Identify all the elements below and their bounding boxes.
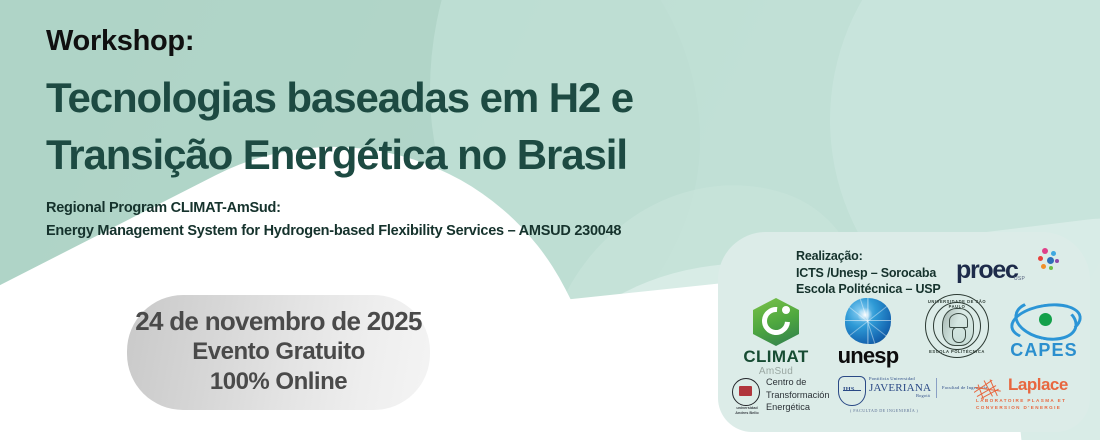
javeriana-overline: Pontificia Universidad [869,376,915,381]
kicker-label: Workshop: [46,26,746,58]
usp-poli-seal-logo: UNIVERSIDADE DE SÃO PAULO ESCOLA POLITÉC… [914,294,1000,358]
unab-mark-sub-1: universidad [736,406,757,410]
capes-logo: CAPES [1000,298,1088,359]
climat-wordmark: CLIMAT [730,348,822,365]
sponsor-logo-row-primary: CLIMAT AmSud unesp UNIVERSIDADE DE SÃO P… [718,294,1090,376]
unab-wordmark: Centro de Transformación Energética [766,376,829,414]
realizacao-block: Realização: ICTS /Unesp – Sorocaba Escol… [796,248,941,298]
unab-line-1: Centro de [766,377,806,387]
event-details-pill: 24 de novembro de 2025 Evento Gratuito 1… [127,295,430,410]
sponsors-card: Realização: ICTS /Unesp – Sorocaba Escol… [718,232,1090,432]
unesp-wordmark: unesp [822,345,914,367]
usp-seal-top-text: UNIVERSIDADE DE SÃO PAULO [926,299,988,309]
laplace-mesh-icon [974,378,1008,400]
capes-orbit-icon [1008,298,1080,340]
usp-seal-bottom-text: ESCOLA POLITÉCNICA [926,349,988,354]
event-date: 24 de novembro de 2025 [135,306,422,338]
event-price: Evento Gratuito [192,337,365,367]
unab-mark-sub: universidad Andres Bello [730,406,764,416]
realizacao-label: Realização: [796,248,941,265]
capes-wordmark: CAPES [1000,341,1088,359]
program-line-1: Regional Program CLIMAT-AmSud: [46,197,746,219]
unab-line-2: Transformación [766,390,829,400]
program-block: Regional Program CLIMAT-AmSud: Energy Ma… [46,197,746,242]
unab-line-3: Energética [766,402,810,412]
javeriana-divider [936,378,937,398]
realizacao-org-1: ICTS /Unesp – Sorocaba [796,265,941,282]
laplace-wordmark: Laplace [1008,376,1068,393]
laplace-sub-2: CONVERSION D'ENERGIE [976,405,1061,410]
program-line-2: Energy Management System for Hydrogen-ba… [46,220,746,242]
event-banner: Workshop: Tecnologias baseadas em H2 e T… [0,0,1100,440]
proec-sub: USP [1014,276,1025,282]
unab-mark-sub-2: Andres Bello [735,411,758,415]
climat-amsud-logo: CLIMAT AmSud [730,298,822,379]
proec-wordmark: proec [956,256,1018,285]
sponsor-logo-row-secondary: universidad Andres Bello Centro de Trans… [718,372,1090,428]
javeriana-city: Bogotá [916,393,930,398]
proec-dots-icon [1028,248,1062,278]
proec-logo: proec USP [956,248,1064,290]
page-title-line-2: Transição Energética no Brasil [46,127,746,184]
unesp-globe-icon [845,298,891,344]
headline-block: Workshop: Tecnologias baseadas em H2 e T… [46,26,746,242]
javeriana-footer: ( FACULTAD DE INGENIERÍA ) [850,408,918,413]
laplace-sub-1: LABORATOIRE PLASMA ET [976,398,1066,403]
usp-seal-icon: UNIVERSIDADE DE SÃO PAULO ESCOLA POLITÉC… [925,294,989,358]
javeriana-monogram: IHS [843,386,855,393]
climat-hexagon-icon [753,298,799,346]
page-title-line-1: Tecnologias baseadas em H2 e [46,70,746,127]
event-format: 100% Online [210,367,347,397]
unab-shield-icon [732,378,760,406]
unesp-logo: unesp [822,298,914,367]
